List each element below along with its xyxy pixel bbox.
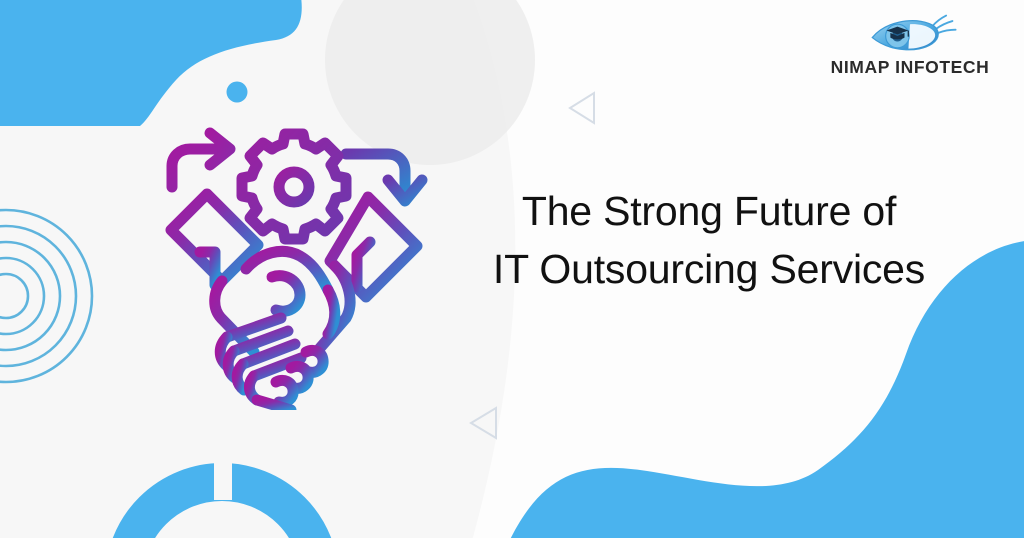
eye-with-lashes-logo-icon	[862, 14, 958, 58]
page-title: The Strong Future of IT Outsourcing Serv…	[470, 182, 948, 298]
gear-icon	[242, 134, 346, 239]
logo-wordmark: NIMAP INFOTECH	[831, 59, 990, 77]
nimap-infotech-logo: NIMAP INFOTECH	[824, 14, 996, 86]
page-title-line-2: IT Outsourcing Services	[470, 240, 948, 298]
handshake-illustration-svg	[160, 122, 428, 410]
curved-arrow-left	[172, 133, 230, 187]
handshake-with-gear-and-arrows-illustration	[160, 122, 428, 410]
banner-graphic: NIMAP INFOTECH The Strong Future of IT O…	[0, 0, 1024, 538]
handshake-icon	[171, 194, 417, 410]
page-title-line-1: The Strong Future of	[470, 182, 948, 240]
blue-dot	[227, 82, 248, 103]
curved-arrow-right	[346, 154, 422, 201]
